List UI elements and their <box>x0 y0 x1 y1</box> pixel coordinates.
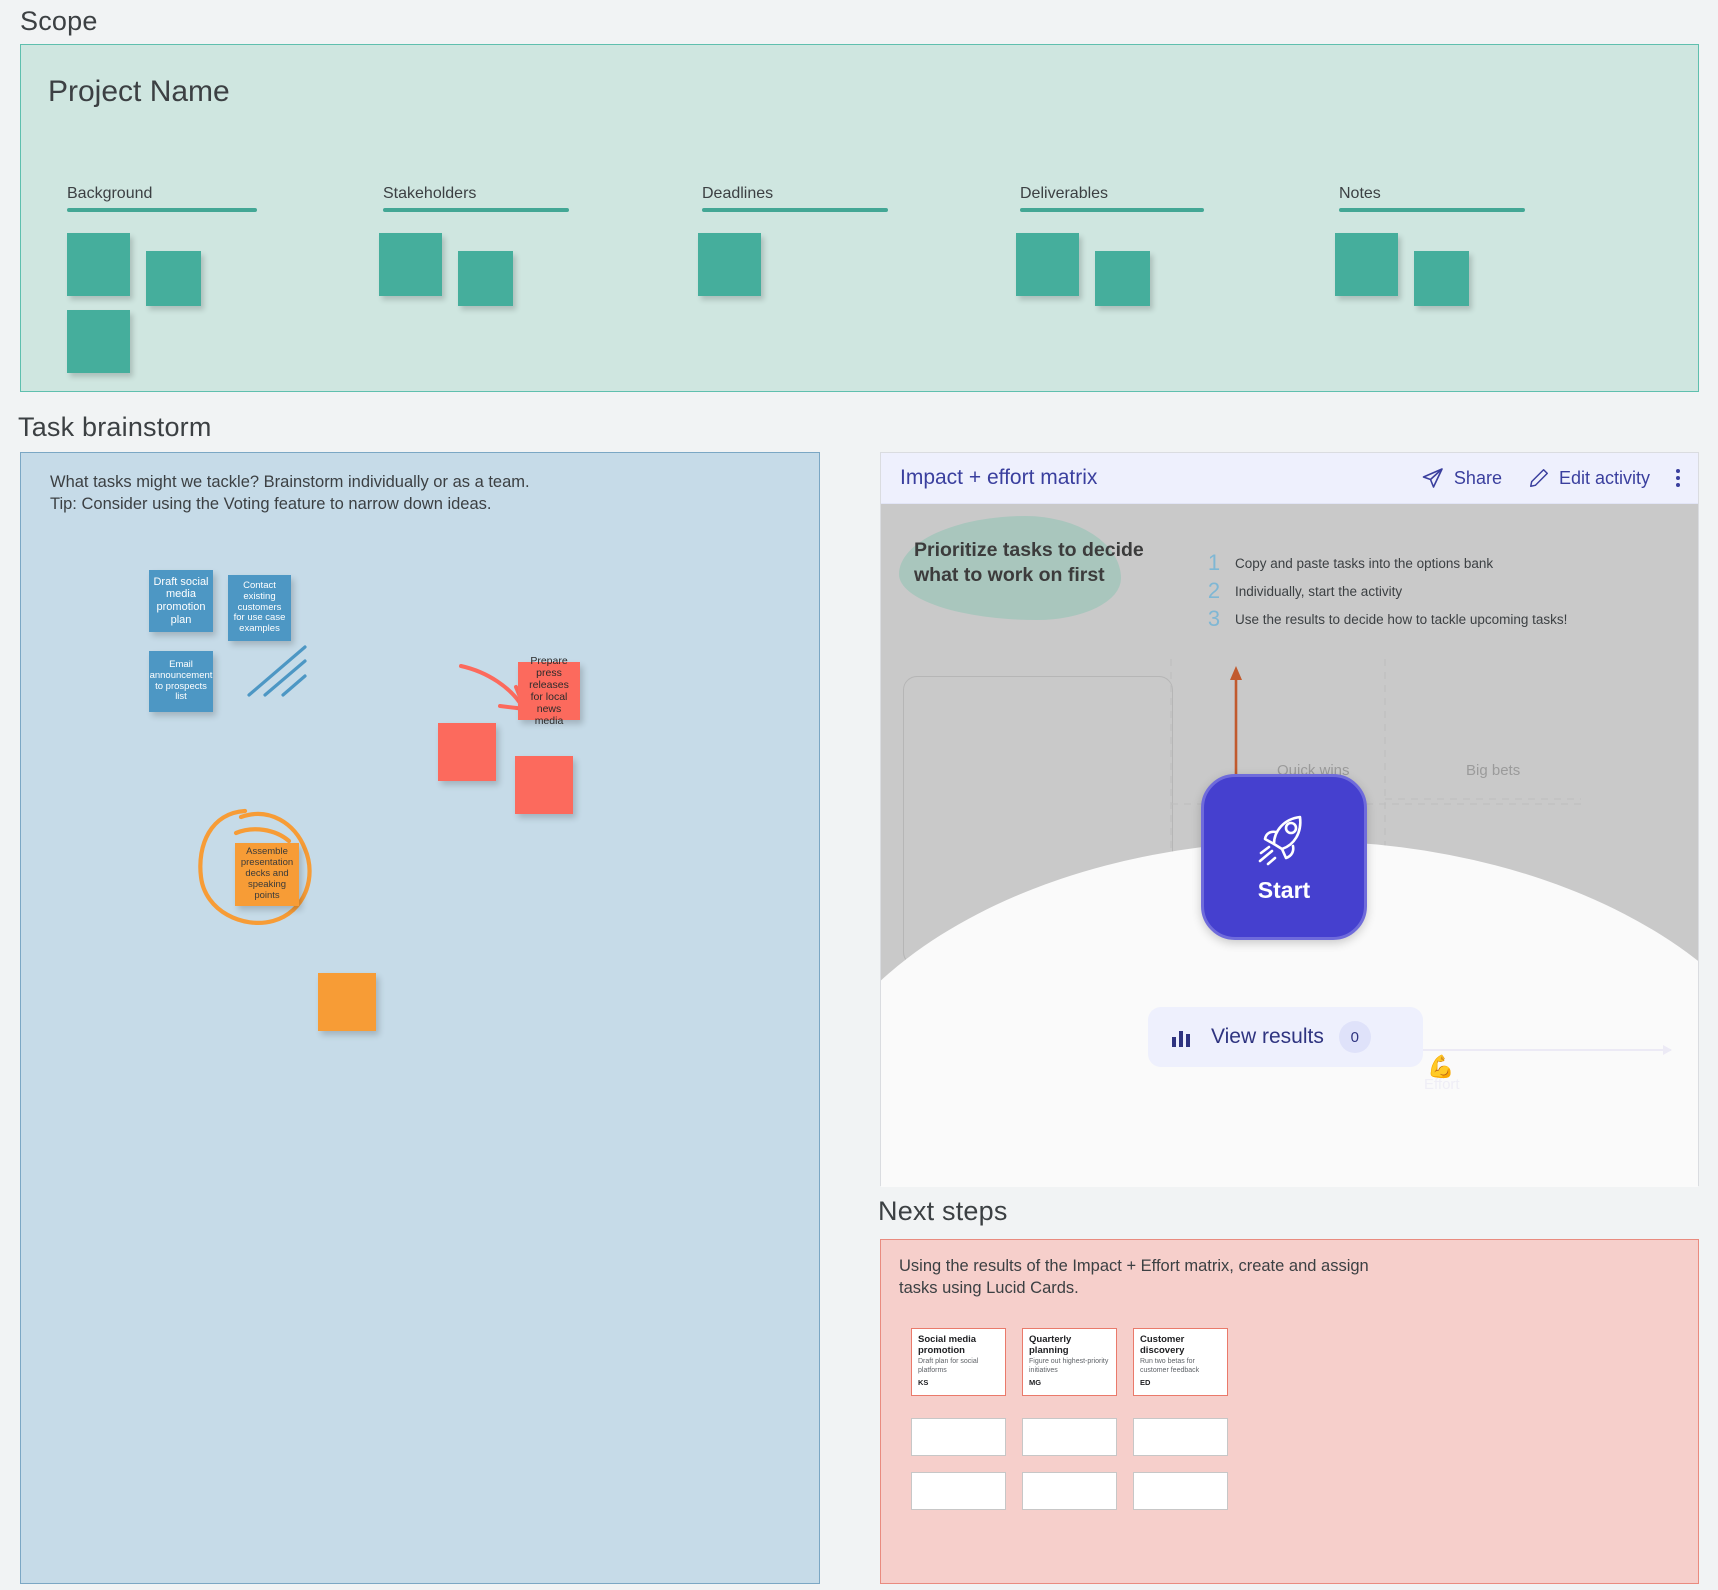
next-steps-text-line-1: Using the results of the Impact + Effort… <box>899 1255 1369 1277</box>
matrix-headline: Prioritize tasks to decide what to work … <box>914 538 1164 588</box>
scope-sticky-note[interactable] <box>146 251 201 306</box>
project-name: Project Name <box>48 75 230 109</box>
scope-panel: Project Name Background Stakeholders Dea… <box>20 44 1699 392</box>
scope-column-rule <box>702 208 888 212</box>
scope-column-label: Deadlines <box>702 185 888 208</box>
scope-sticky-note[interactable] <box>698 233 761 296</box>
step-text: Individually, start the activity <box>1235 584 1402 599</box>
scope-column-label: Background <box>67 185 257 208</box>
lucid-card-customer-discovery[interactable]: Customer discovery Run two betas for cus… <box>1133 1328 1228 1396</box>
scope-sticky-note[interactable] <box>1335 233 1398 296</box>
matrix-step-2: 2 Individually, start the activity <box>1206 578 1402 604</box>
task-brainstorm-panel: What tasks might we tackle? Brainstorm i… <box>20 452 820 1584</box>
sticky-note-blank-red[interactable] <box>438 723 496 781</box>
scope-column-label: Deliverables <box>1020 185 1204 208</box>
lucid-card-placeholder[interactable] <box>1133 1418 1228 1456</box>
sticky-note-draft-social-media[interactable]: Draft social media promotion plan <box>149 570 213 632</box>
scope-column-background: Background <box>67 185 257 212</box>
step-number: 3 <box>1206 606 1222 632</box>
lucid-card-placeholder[interactable] <box>1022 1472 1117 1510</box>
effort-axis-label: Effort <box>1424 1076 1460 1093</box>
pencil-icon <box>1528 467 1550 489</box>
lucid-card-placeholder[interactable] <box>1133 1472 1228 1510</box>
scope-column-deliverables: Deliverables <box>1020 185 1204 212</box>
step-number: 1 <box>1206 550 1222 576</box>
step-number: 2 <box>1206 578 1222 604</box>
scope-column-stakeholders: Stakeholders <box>383 185 569 212</box>
next-steps-heading: Next steps <box>878 1196 1008 1227</box>
effort-axis-line <box>1421 1049 1671 1051</box>
lucid-card-placeholder[interactable] <box>1022 1418 1117 1456</box>
sticky-note-contact-existing-customers[interactable]: Contact existing customers for use case … <box>228 575 291 641</box>
scope-sticky-note[interactable] <box>379 233 442 296</box>
more-options-icon[interactable] <box>1676 469 1680 487</box>
share-button[interactable]: Share <box>1421 466 1502 490</box>
lucid-card-social-media-promotion[interactable]: Social media promotion Draft plan for so… <box>911 1328 1006 1396</box>
task-brainstorm-heading: Task brainstorm <box>18 412 212 443</box>
lucid-card-quarterly-planning[interactable]: Quarterly planning Figure out highest-pr… <box>1022 1328 1117 1396</box>
paper-plane-icon <box>1421 466 1445 490</box>
scope-column-deadlines: Deadlines <box>702 185 888 212</box>
scope-sticky-note[interactable] <box>1414 251 1469 306</box>
step-text: Copy and paste tasks into the options ba… <box>1235 556 1493 571</box>
next-steps-description: Using the results of the Impact + Effort… <box>899 1255 1369 1299</box>
sticky-note-blank-orange[interactable] <box>318 973 376 1031</box>
view-results-button[interactable]: View results 0 <box>1148 1007 1423 1067</box>
matrix-headline-line-1: Prioritize tasks to decide <box>914 538 1164 563</box>
scope-sticky-note[interactable] <box>458 251 513 306</box>
scope-sticky-note[interactable] <box>1095 251 1150 306</box>
start-button-label: Start <box>1258 877 1310 904</box>
sticky-note-email-announcement[interactable]: Email announcement to prospects list <box>149 651 213 712</box>
bar-chart-icon <box>1170 1024 1196 1050</box>
lucid-card-assignee-initials: KS <box>918 1378 999 1387</box>
matrix-card-header: Impact + effort matrix Share Edit activi… <box>881 453 1698 504</box>
lucid-card-title: Customer discovery <box>1140 1334 1221 1356</box>
matrix-preview-body[interactable]: Quick wins Big bets Incremental Money pi… <box>881 504 1698 1187</box>
share-label: Share <box>1454 468 1502 489</box>
matrix-step-1: 1 Copy and paste tasks into the options … <box>1206 550 1493 576</box>
scope-column-rule <box>1020 208 1204 212</box>
rocket-icon <box>1252 811 1316 871</box>
scope-sticky-note[interactable] <box>67 233 130 296</box>
start-activity-button[interactable]: Start <box>1201 774 1367 940</box>
matrix-step-3: 3 Use the results to decide how to tackl… <box>1206 606 1567 632</box>
scope-column-rule <box>383 208 569 212</box>
view-results-count: 0 <box>1339 1021 1371 1053</box>
scope-column-label: Notes <box>1339 185 1525 208</box>
scope-sticky-note[interactable] <box>1016 233 1079 296</box>
matrix-headline-line-2: what to work on first <box>914 563 1164 588</box>
brainstorm-prompt: What tasks might we tackle? Brainstorm i… <box>50 472 530 516</box>
step-text: Use the results to decide how to tackle … <box>1235 612 1567 627</box>
scope-column-rule <box>67 208 257 212</box>
sticky-note-assemble-presentation-decks[interactable]: Assemble presentation decks and speaking… <box>235 843 299 906</box>
brainstorm-prompt-line-1: What tasks might we tackle? Brainstorm i… <box>50 472 530 494</box>
lucid-card-assignee-initials: MG <box>1029 1378 1110 1387</box>
lucid-card-title: Quarterly planning <box>1029 1334 1110 1356</box>
scope-column-notes: Notes <box>1339 185 1525 212</box>
lucid-card-placeholder[interactable] <box>911 1472 1006 1510</box>
lucid-card-description: Figure out highest-priority initiatives <box>1029 1358 1110 1375</box>
scope-column-rule <box>1339 208 1525 212</box>
sticky-note-blank-red[interactable] <box>515 756 573 814</box>
lucid-card-assignee-initials: ED <box>1140 1378 1221 1387</box>
next-steps-panel: Using the results of the Impact + Effort… <box>880 1239 1699 1584</box>
edit-activity-label: Edit activity <box>1559 468 1650 489</box>
lucid-card-placeholder[interactable] <box>911 1418 1006 1456</box>
lucid-card-description: Run two betas for customer feedback <box>1140 1358 1221 1375</box>
sticky-note-prepare-press-releases[interactable]: Prepare press releases for local news me… <box>518 662 580 720</box>
view-results-label: View results <box>1211 1025 1324 1049</box>
brainstorm-prompt-line-2: Tip: Consider using the Voting feature t… <box>50 494 530 516</box>
scope-heading: Scope <box>20 6 98 37</box>
edit-activity-button[interactable]: Edit activity <box>1528 467 1650 489</box>
scope-sticky-note[interactable] <box>67 310 130 373</box>
next-steps-text-line-2: tasks using Lucid Cards. <box>899 1277 1369 1299</box>
matrix-card-title: Impact + effort matrix <box>900 466 1395 490</box>
lucid-card-description: Draft plan for social platforms <box>918 1358 999 1375</box>
lucid-card-title: Social media promotion <box>918 1334 999 1356</box>
scope-column-label: Stakeholders <box>383 185 569 208</box>
blue-scribble-doodle <box>243 643 313 703</box>
impact-effort-matrix-card: Impact + effort matrix Share Edit activi… <box>880 452 1699 1186</box>
